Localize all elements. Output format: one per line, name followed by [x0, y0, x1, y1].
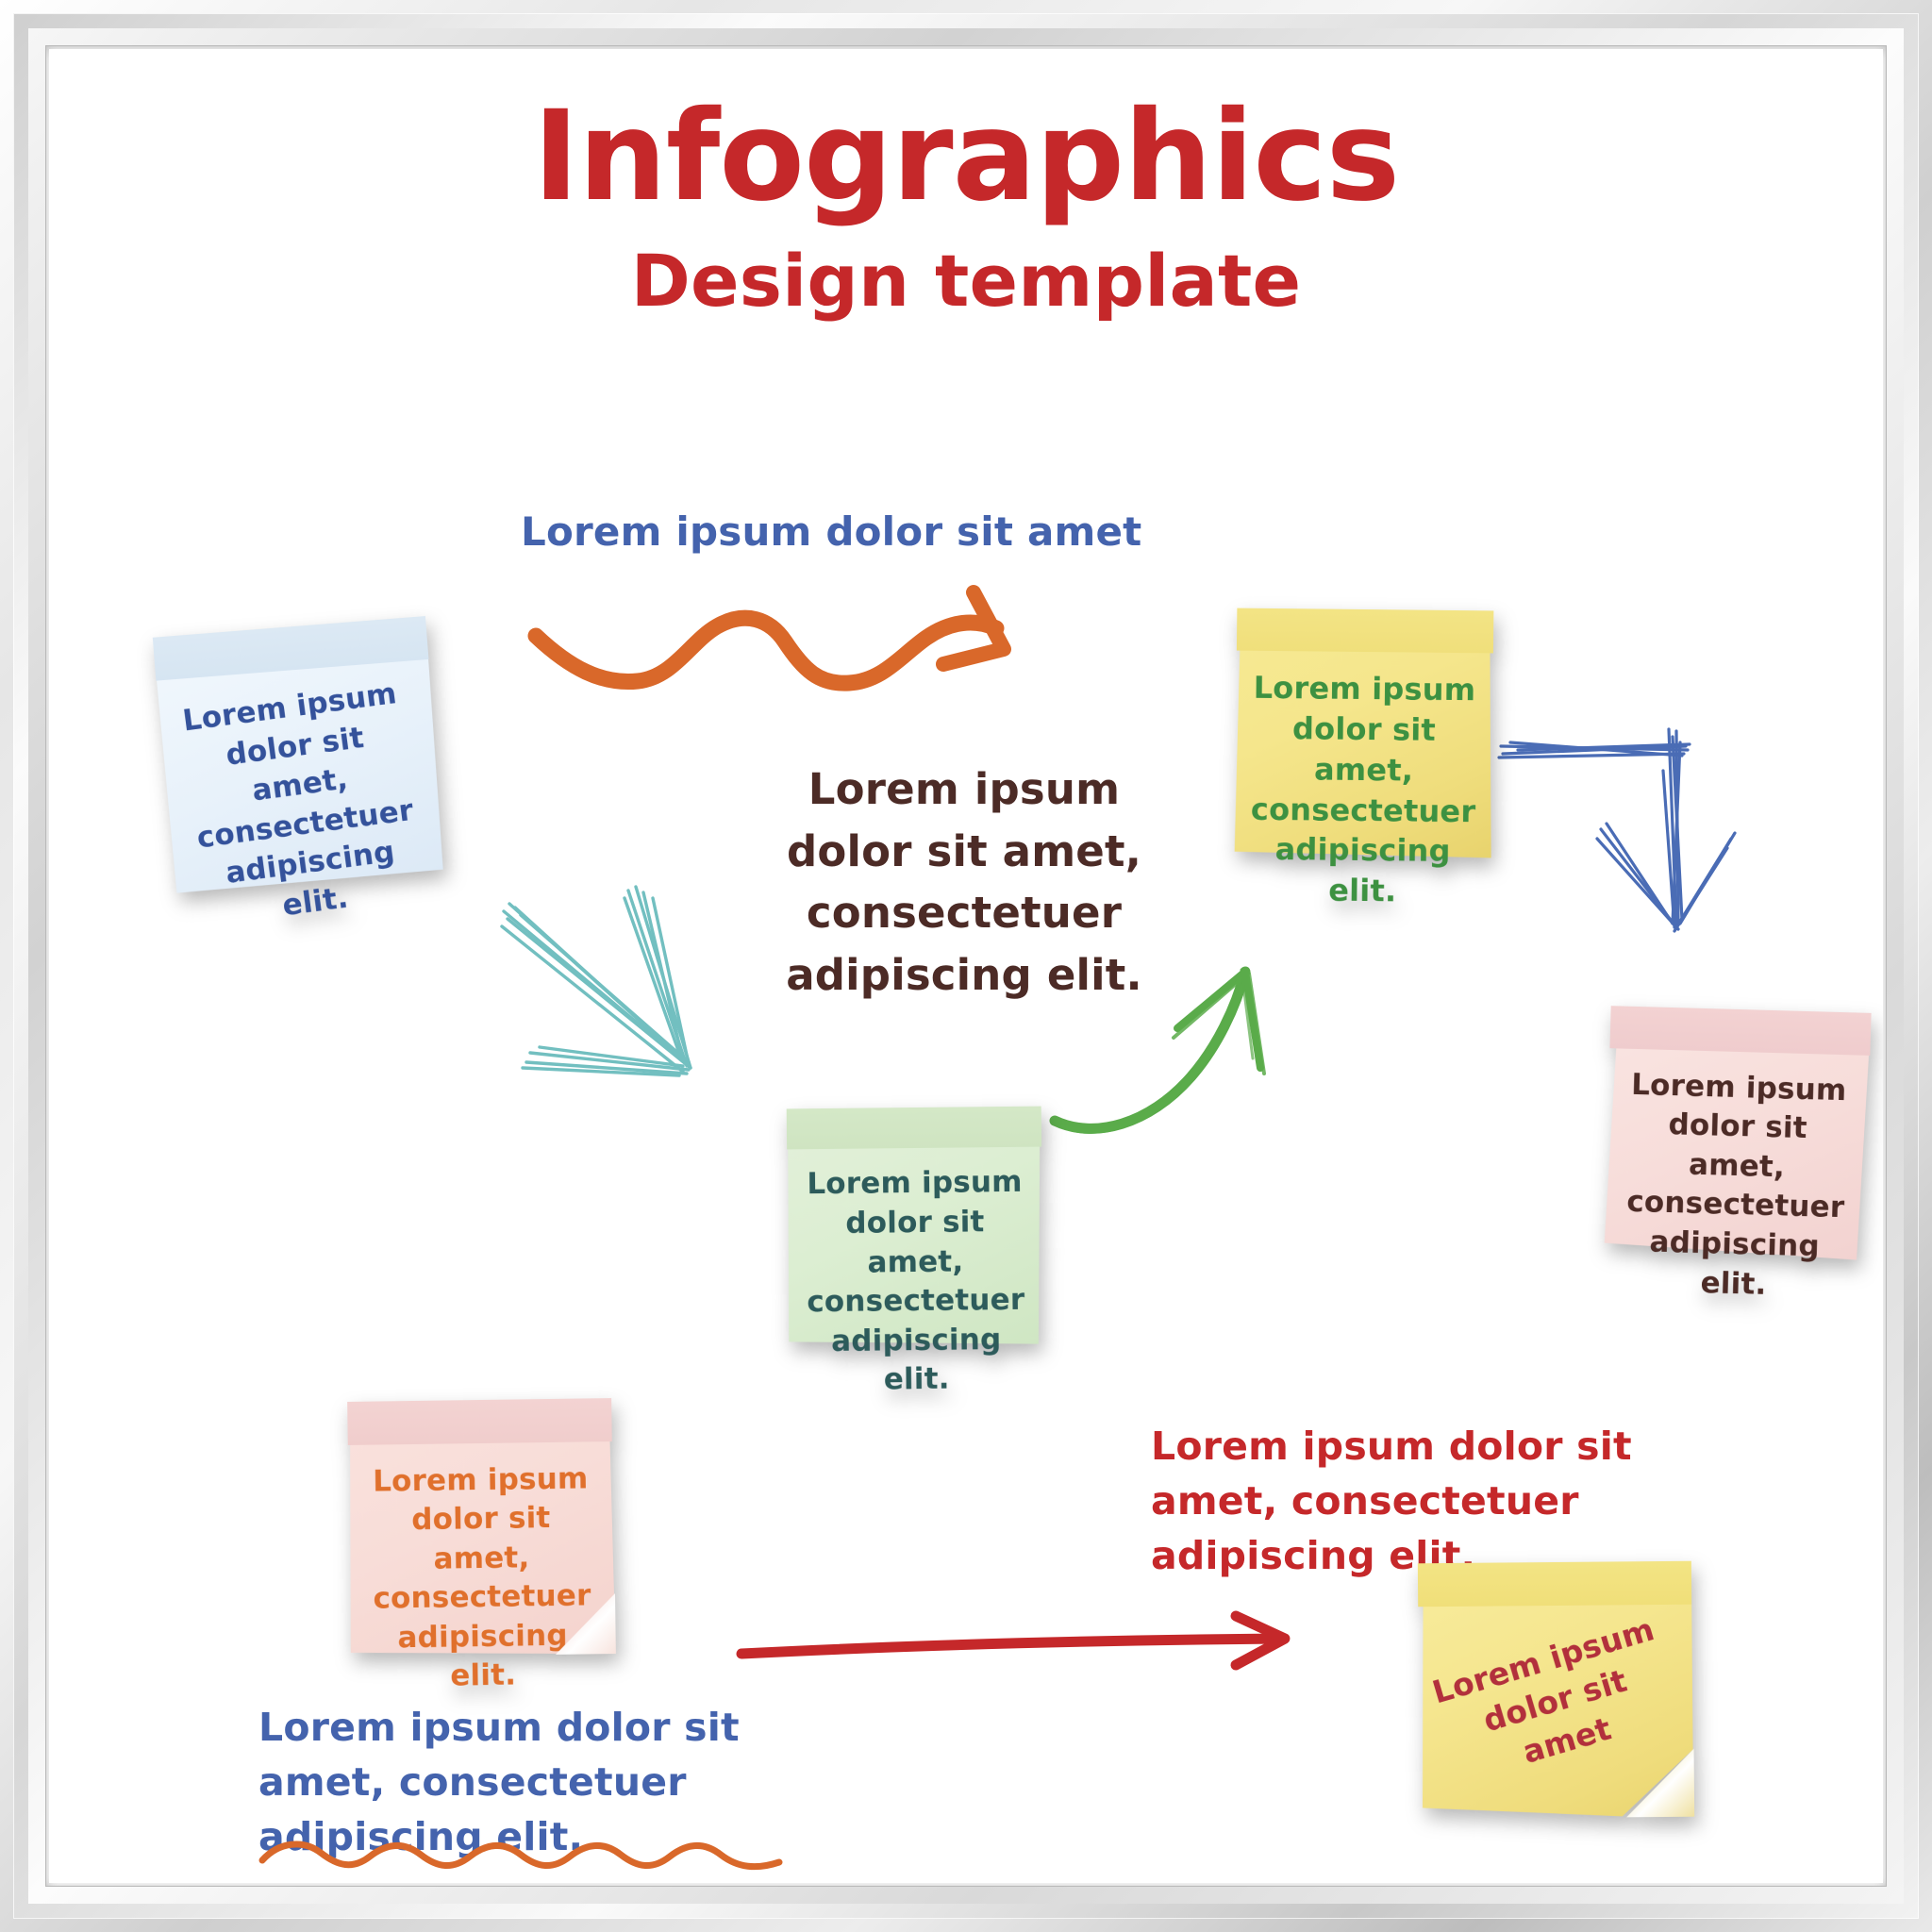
sticky-note-blue[interactable]: Lorem ipsum dolor sit amet, consectetuer…: [153, 616, 445, 893]
arrow-green-brush: [1049, 955, 1294, 1134]
note-text: Lorem ipsum dolor sit amet, consectetuer…: [1619, 1066, 1855, 1307]
arrow-orange-wavy: [532, 587, 1079, 700]
note-tape-strip: [787, 1107, 1041, 1150]
sticky-note-yellow-top[interactable]: Lorem ipsum dolor sit amet, consectetuer…: [1235, 608, 1494, 858]
note-tape-strip: [347, 1398, 612, 1445]
page-title: Infographics: [49, 94, 1883, 219]
note-text: Lorem ipsum dolor sit amet, consectetuer…: [364, 1459, 600, 1698]
arrow-blue-sketch: [1497, 714, 1742, 950]
arrow-teal-sketch: [502, 870, 747, 1087]
note-text: Lorem ipsum dolor sit amet, consectetuer…: [803, 1163, 1029, 1401]
squiggle-orange-underline: [258, 1832, 787, 1877]
sticky-note-green[interactable]: Lorem ipsum dolor sit amet, consectetuer…: [787, 1107, 1044, 1347]
note-tape-strip: [1418, 1561, 1691, 1607]
top-caption-label: Lorem ipsum dolor sit amet: [521, 508, 1141, 555]
page-subtitle: Design template: [49, 245, 1883, 317]
sticky-note-yellow-bottom[interactable]: Lorem ipsum dolor sit amet: [1418, 1561, 1693, 1819]
note-tape-strip: [1237, 608, 1493, 653]
arrow-red-straight: [738, 1610, 1323, 1686]
red-paragraph: Lorem ipsum dolor sit amet, consectetuer…: [1151, 1419, 1736, 1584]
sticky-note-pink-left[interactable]: Lorem ipsum dolor sit amet, consectetuer…: [347, 1398, 615, 1657]
note-tape-strip: [1609, 1006, 1871, 1055]
sticky-note-pink-right[interactable]: Lorem ipsum dolor sit amet, consectetuer…: [1604, 1006, 1871, 1260]
note-text: Lorem ipsum dolor sit amet, consectetuer…: [168, 674, 438, 938]
poster-canvas: Infographics Design template Lorem ipsum…: [49, 49, 1883, 1883]
note-text: Lorem ipsum dolor sit amet, consectetuer…: [1249, 668, 1477, 913]
infographic-poster: Infographics Design template Lorem ipsum…: [0, 0, 1932, 1932]
